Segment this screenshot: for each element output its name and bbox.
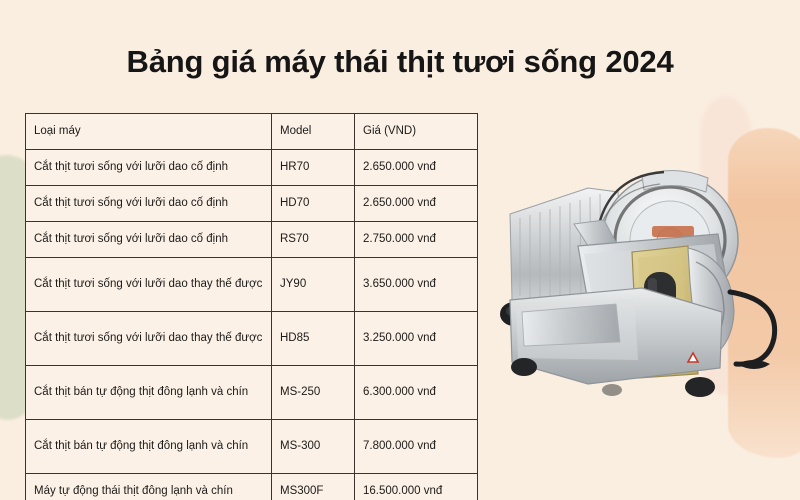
- cell-model: HR70: [272, 150, 355, 186]
- cell-model: HD70: [272, 186, 355, 222]
- cell-type: Cắt thịt bán tự động thịt đông lạnh và c…: [26, 366, 272, 420]
- cell-price: 2.750.000 vnđ: [355, 222, 478, 258]
- cell-model: HD85: [272, 312, 355, 366]
- table-header-row: Loại máy Model Giá (VND): [26, 114, 478, 150]
- page-title: Bảng giá máy thái thịt tươi sống 2024: [0, 44, 800, 80]
- cell-price: 3.650.000 vnđ: [355, 258, 478, 312]
- table-row: Máy tự động thái thịt đông lạnh và chín …: [26, 474, 478, 500]
- cell-model: MS300F: [272, 474, 355, 500]
- table-row: Cắt thịt bán tự động thịt đông lạnh và c…: [26, 366, 478, 420]
- column-header-price: Giá (VND): [355, 114, 478, 150]
- table-row: Cắt thịt tươi sống với lưỡi dao thay thế…: [26, 312, 478, 366]
- price-list-page: Bảng giá máy thái thịt tươi sống 2024 Lo…: [0, 0, 800, 500]
- cell-price: 2.650.000 vnđ: [355, 150, 478, 186]
- cell-type: Cắt thịt bán tự động thịt đông lạnh và c…: [26, 420, 272, 474]
- cell-type: Cắt thịt tươi sống với lưỡi dao cố định: [26, 186, 272, 222]
- price-table-container: Loại máy Model Giá (VND) Cắt thịt tươi s…: [25, 113, 477, 500]
- column-header-model: Model: [272, 114, 355, 150]
- cell-type: Cắt thịt tươi sống với lưỡi dao cố định: [26, 150, 272, 186]
- cell-model: MS-250: [272, 366, 355, 420]
- cell-price: 6.300.000 vnđ: [355, 366, 478, 420]
- cell-type: Máy tự động thái thịt đông lạnh và chín: [26, 474, 272, 500]
- cell-model: MS-300: [272, 420, 355, 474]
- cell-type: Cắt thịt tươi sống với lưỡi dao thay thế…: [26, 258, 272, 312]
- cell-price: 16.500.000 vnđ: [355, 474, 478, 500]
- cell-model: JY90: [272, 258, 355, 312]
- meat-slicer-machine: [492, 162, 784, 404]
- table-row: Cắt thịt tươi sống với lưỡi dao cố định …: [26, 186, 478, 222]
- cell-price: 7.800.000 vnđ: [355, 420, 478, 474]
- table-row: Cắt thịt tươi sống với lưỡi dao cố định …: [26, 222, 478, 258]
- table-row: Cắt thịt tươi sống với lưỡi dao cố định …: [26, 150, 478, 186]
- table-row: Cắt thịt bán tự động thịt đông lạnh và c…: [26, 420, 478, 474]
- price-table: Loại máy Model Giá (VND) Cắt thịt tươi s…: [25, 113, 478, 500]
- cell-price: 3.250.000 vnđ: [355, 312, 478, 366]
- column-header-type: Loại máy: [26, 114, 272, 150]
- table-row: Cắt thịt tươi sống với lưỡi dao thay thế…: [26, 258, 478, 312]
- cell-type: Cắt thịt tươi sống với lưỡi dao cố định: [26, 222, 272, 258]
- cell-price: 2.650.000 vnđ: [355, 186, 478, 222]
- cell-type: Cắt thịt tươi sống với lưỡi dao thay thế…: [26, 312, 272, 366]
- cell-model: RS70: [272, 222, 355, 258]
